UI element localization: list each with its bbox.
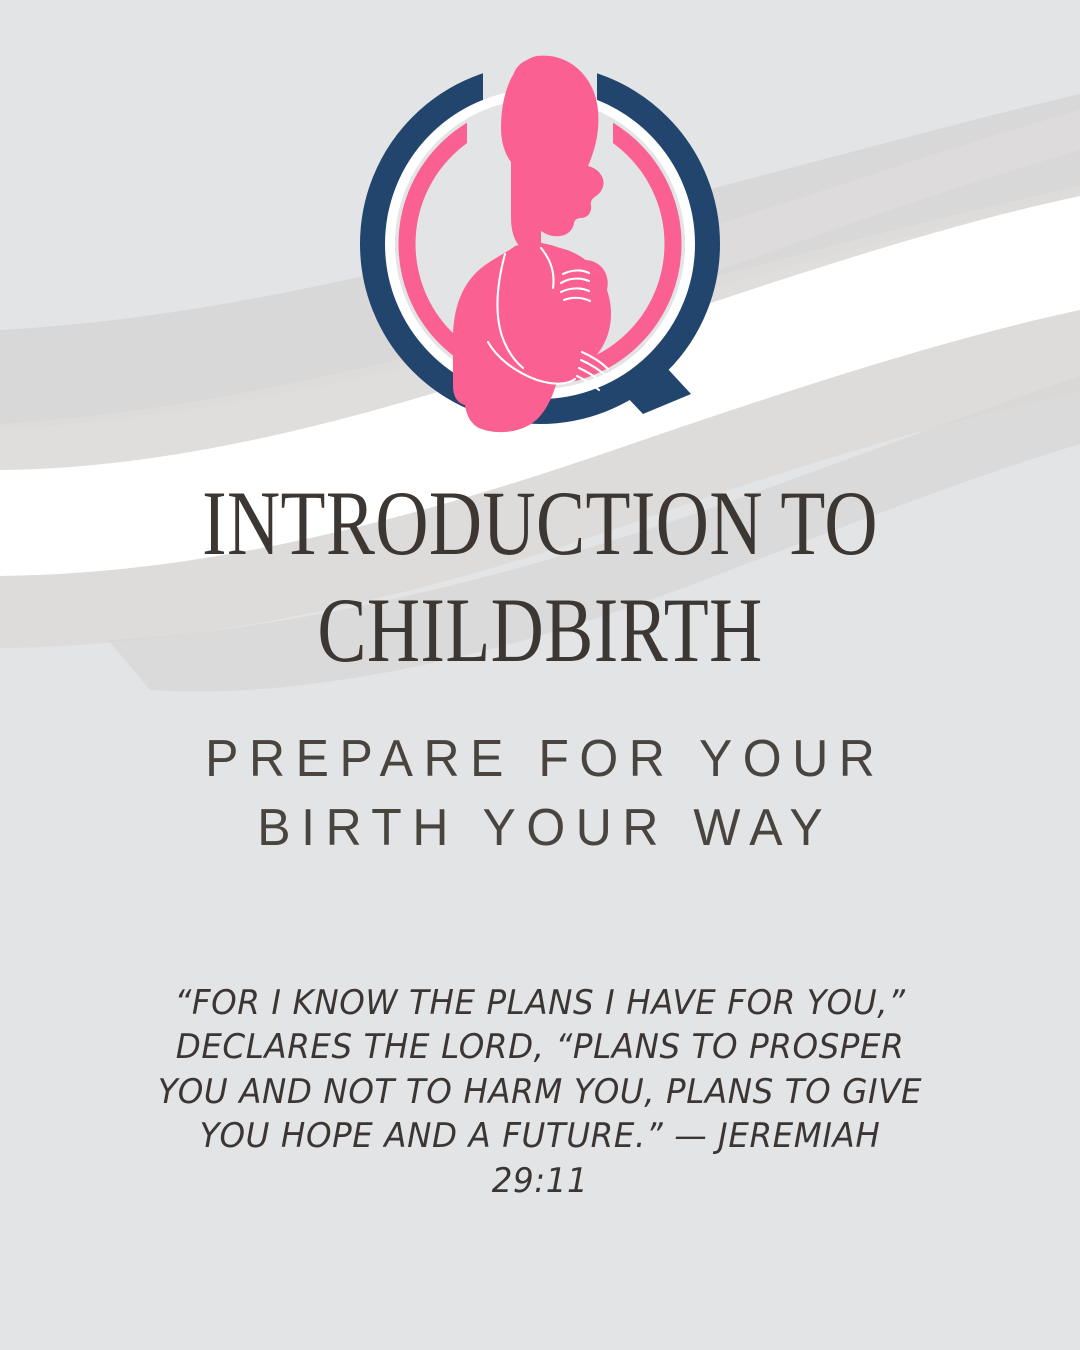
wave-top-right-arc: [700, 110, 1080, 272]
poster-canvas: INTRODUCTION TO CHILDBIRTH PREPARE FOR Y…: [0, 0, 1080, 1350]
quote-line-3: YOU AND NOT TO HARM YOU, PLANS TO GIVE: [158, 1072, 922, 1111]
subtitle-line-1: PREPARE FOR YOUR: [22, 725, 1059, 794]
page-title: INTRODUCTION TO CHILDBIRTH: [108, 470, 972, 683]
quote-line-2: DECLARES THE LORD, “PLANS TO PROSPER: [176, 1027, 905, 1066]
title-line-2: CHILDBIRTH: [108, 577, 972, 684]
content-block: INTRODUCTION TO CHILDBIRTH PREPARE FOR Y…: [0, 470, 1080, 1203]
quote-line-1: “FOR I KNOW THE PLANS I HAVE FOR YOU,”: [174, 983, 905, 1022]
quote-line-5: 29:11: [492, 1161, 589, 1200]
logo: [355, 42, 725, 447]
title-line-1: INTRODUCTION TO: [108, 470, 972, 577]
logo-svg: [355, 42, 725, 447]
page-subtitle: PREPARE FOR YOUR BIRTH YOUR WAY: [22, 725, 1059, 862]
quote-line-4: YOU HOPE AND A FUTURE.” — JEREMIAH: [200, 1116, 881, 1155]
subtitle-line-2: BIRTH YOUR WAY: [22, 794, 1059, 863]
scripture-quote: “FOR I KNOW THE PLANS I HAVE FOR YOU,” D…: [133, 981, 948, 1204]
